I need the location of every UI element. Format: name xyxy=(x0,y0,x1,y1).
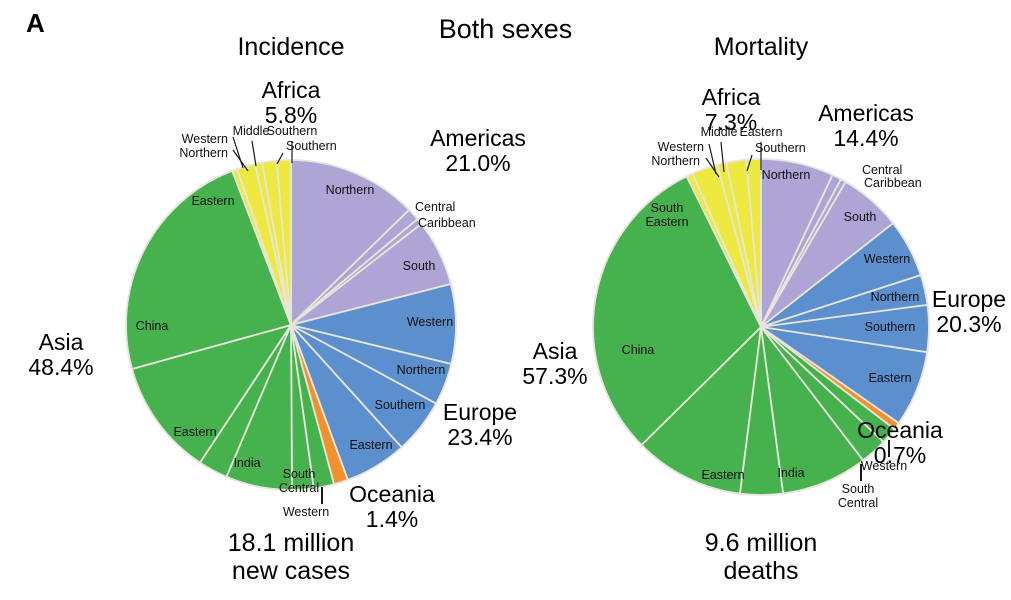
mortality-label-asia-western: Western xyxy=(861,459,907,473)
mortality-label-asia-south-central-text: South Central xyxy=(838,482,878,510)
mortality-label-americas-south: South xyxy=(844,210,877,224)
mortality-asia-pct: 57.3% xyxy=(522,364,587,389)
figure-panel-a: A Both sexes Incidence Africa 5.8% Ameri… xyxy=(0,0,1011,600)
footer-incidence-line1: 18.1 million xyxy=(228,529,354,557)
mortality-label-africa-northern: Northern xyxy=(651,154,700,168)
mortality-label-europe-southern: Southern xyxy=(865,320,916,334)
mortality-continent-americas: Americas 14.4% xyxy=(818,101,914,152)
mortality-africa-name: Africa xyxy=(702,84,761,110)
mortality-label-europe-northern: Northern xyxy=(871,290,920,304)
mortality-label-asia-south-eastern-text: South Eastern xyxy=(645,201,688,229)
mortality-continent-europe: Europe 20.3% xyxy=(932,287,1006,338)
mortality-label-europe-western: Western xyxy=(864,252,910,266)
mortality-europe-name: Europe xyxy=(932,286,1006,312)
mortality-label-africa-western: Western xyxy=(658,140,704,154)
mortality-label-africa-southern: Southern xyxy=(755,141,806,155)
footer-incidence: 18.1 million new cases xyxy=(228,529,354,585)
mortality-label-asia-india: India xyxy=(777,466,804,480)
mortality-label-americas-central: Central xyxy=(862,163,902,177)
footer-mortality: 9.6 million deaths xyxy=(705,529,818,585)
footer-mortality-line1: 9.6 million xyxy=(705,529,818,557)
mortality-label-asia-south-central: South Central xyxy=(838,482,878,510)
mortality-oceania-name: Oceania xyxy=(857,417,943,443)
mortality-continent-asia: Asia 57.3% xyxy=(522,339,587,390)
footer-incidence-line2: new cases xyxy=(228,557,354,585)
mortality-label-europe-eastern: Eastern xyxy=(868,371,911,385)
mortality-europe-pct: 20.3% xyxy=(932,312,1006,337)
mortality-label-americas-caribbean: Caribbean xyxy=(864,176,922,190)
mortality-label-asia-eastern: Eastern xyxy=(701,468,744,482)
mortality-label-asia-china: China xyxy=(622,343,655,357)
mortality-americas-pct: 14.4% xyxy=(818,126,914,151)
mortality-leader-asia-south-central xyxy=(860,464,862,481)
mortality-asia-name: Asia xyxy=(533,338,578,364)
footer-mortality-line2: deaths xyxy=(705,557,818,585)
mortality-label-americas-northern: Northern xyxy=(762,168,811,182)
mortality-label-africa-eastern: Eastern xyxy=(739,125,782,139)
mortality-label-africa-middle: Middle xyxy=(701,125,738,139)
mortality-leader-asia-western xyxy=(888,440,890,457)
mortality-americas-name: Americas xyxy=(818,100,914,126)
mortality-label-asia-south-eastern: South Eastern xyxy=(645,201,688,229)
pie-chart-mortality xyxy=(0,0,1011,600)
